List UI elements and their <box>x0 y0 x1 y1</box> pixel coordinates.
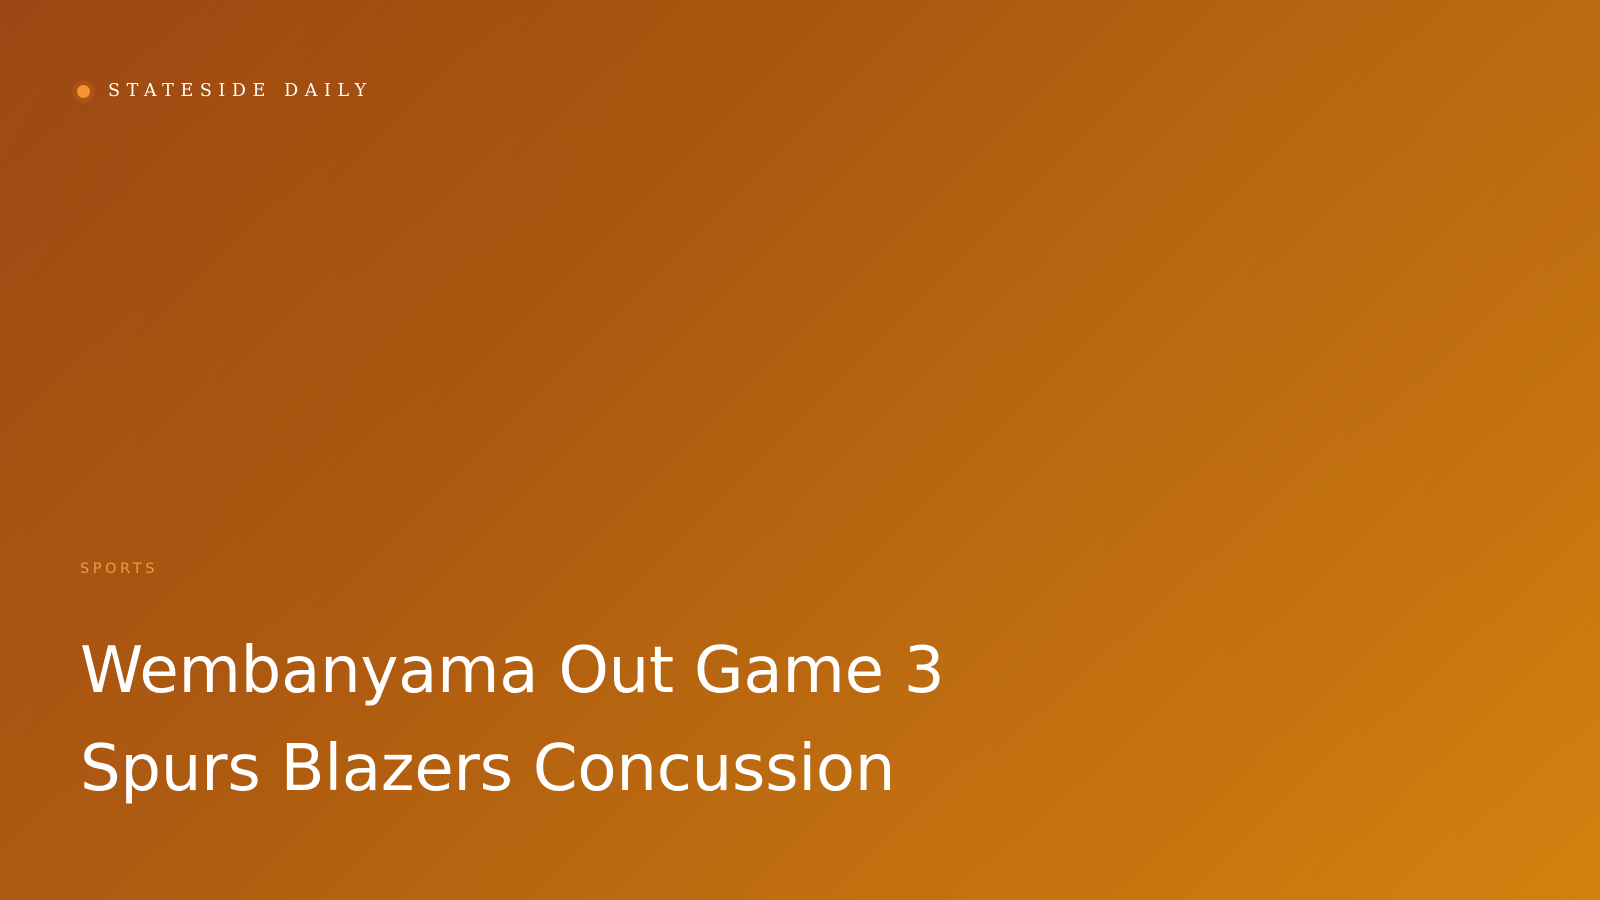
headline-line-2: Spurs Blazers Concussion <box>80 720 1240 818</box>
brand-name: STATESIDE DAILY <box>108 83 373 101</box>
masthead-brand[interactable]: STATESIDE DAILY <box>77 83 373 101</box>
headline-line-1: Wembanyama Out Game 3 <box>80 622 1240 720</box>
article-poster: STATESIDE DAILY SPORTS Wembanyama Out Ga… <box>0 0 1600 900</box>
brand-dot-icon <box>77 85 90 98</box>
page-title: Wembanyama Out Game 3 Spurs Blazers Conc… <box>80 622 1240 818</box>
article-text-block: SPORTS Wembanyama Out Game 3 Spurs Blaze… <box>80 562 1280 819</box>
category-label[interactable]: SPORTS <box>80 562 1280 577</box>
